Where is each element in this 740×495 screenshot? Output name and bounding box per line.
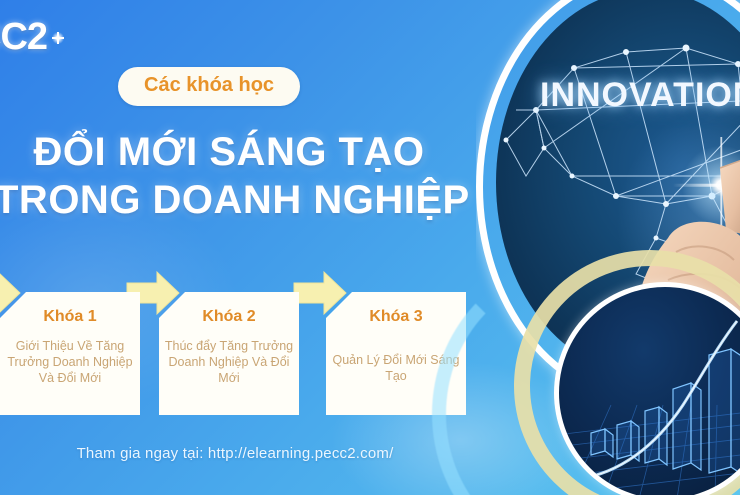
innovation-word: INNOVATION (540, 76, 740, 115)
page-title-line1: ĐỔI MỚI SÁNG TẠO (0, 128, 464, 176)
3d-bar-chart-icon (559, 287, 740, 495)
course-card[interactable]: Khóa 2 Thúc đẩy Tăng Trưởng Doanh Nghiệp… (159, 292, 299, 415)
courses-badge-label: Các khóa học (144, 74, 274, 96)
course-card-description: Thúc đẩy Tăng Trưởng Doanh Nghiệp Và Đổi… (159, 338, 299, 386)
artwork-panel: INNOVATION (462, 0, 740, 495)
course-card[interactable]: Khóa 1 Giới Thiệu Về Tăng Trưởng Doanh N… (0, 292, 140, 415)
cta-link[interactable]: Tham gia ngay tại: http://elearning.pecc… (77, 445, 394, 462)
star-icon (52, 32, 64, 44)
page-title: ĐỔI MỚI SÁNG TẠO TRONG DOANH NGHIỆP (0, 128, 464, 224)
page-title-line2: TRONG DOANH NGHIỆP (0, 176, 464, 224)
courses-badge: Các khóa học (118, 67, 300, 106)
course-card-title: Khóa 3 (326, 308, 466, 326)
course-card-title: Khóa 1 (0, 308, 140, 326)
cta-footer: Tham gia ngay tại: http://elearning.pecc… (0, 445, 470, 463)
course-card-description: Giới Thiệu Về Tăng Trưởng Doanh Nghiệp V… (0, 338, 140, 386)
poster-canvas: CC2 Các khóa học ĐỔI MỚI SÁNG TẠO TRONG … (0, 0, 740, 495)
brand-logo: CC2 (0, 14, 104, 60)
course-cards: Khóa 1 Giới Thiệu Về Tăng Trưởng Doanh N… (0, 292, 488, 417)
course-card-title: Khóa 2 (159, 308, 299, 326)
chart-circle (554, 282, 740, 495)
